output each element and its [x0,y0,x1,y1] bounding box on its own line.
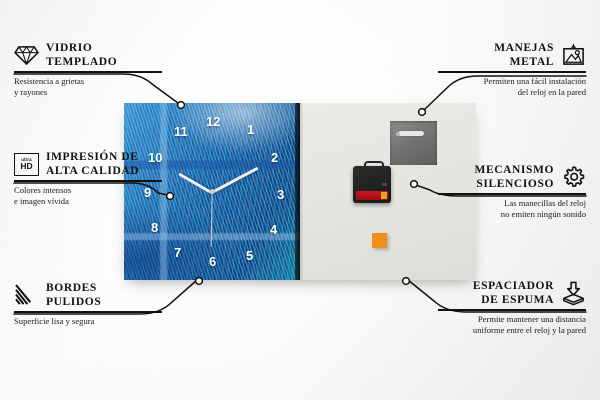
feature-desc-line1: Colores intensos [14,185,164,197]
feature-title-line2: METAL [494,55,554,69]
marker-impresion [167,193,174,200]
feature-bordes-pulidos: BORDES PULIDOS Superficie lisa y segura [14,281,164,327]
feature-title-line2: PULIDOS [46,295,101,309]
feature-desc-line2: no emiten ningún sonido [436,209,586,221]
feature-impresion-alta-calidad: ultra HD IMPRESIÓN DE ALTA CALIDAD Color… [14,150,164,208]
diamond-icon [14,43,39,68]
feature-title-line1: BORDES [46,281,101,295]
feature-rule [14,311,162,313]
feature-title-line2: TEMPLADO [46,55,117,69]
feature-manejas-metal: MANEJAS METAL Permiten una fácil instala… [436,41,586,99]
feature-title-line1: MANEJAS [494,41,554,55]
feature-desc-line1: Resistencia a grietas [14,76,164,88]
feature-title-line2: DE ESPUMA [473,293,554,307]
feature-desc-line1: Permiten una fácil instalación [436,76,586,88]
feature-desc-line2: del reloj en la pared [436,87,586,99]
infographic-canvas: 12 1 2 3 4 5 6 7 8 9 10 11 [0,0,600,400]
feature-title-line2: SILENCIOSO [474,177,554,191]
feature-title-line1: MECANISMO [474,163,554,177]
feature-desc-line2: uniforme entre el reloj y la pared [436,325,586,337]
ultra-hd-hd-label: HD [20,162,32,171]
feature-desc-line2: e imagen vívida [14,196,164,208]
marker-mecanismo [411,181,418,188]
feature-espaciador-espuma: ESPACIADOR DE ESPUMA Permite mantener un… [436,279,586,337]
feature-title-line1: VIDRIO [46,41,117,55]
feature-desc-line1: Las manecillas del reloj [436,198,586,210]
marker-bordes [196,278,203,285]
marker-vidrio [178,102,185,109]
feature-desc-line1: Superficie lisa y segura [14,316,164,328]
picture-frame-icon [561,43,586,68]
feature-title-line1: IMPRESIÓN DE [46,150,139,164]
polished-edges-icon [14,283,39,308]
feature-rule [438,309,586,311]
gear-icon [561,165,586,190]
feature-rule [14,180,162,182]
ultra-hd-icon: ultra HD [14,152,39,177]
foam-spacer-icon [561,281,586,306]
feature-rule [14,71,162,73]
feature-rule [438,71,586,73]
feature-title-line1: ESPACIADOR [473,279,554,293]
feature-desc-line2: y rayones [14,87,164,99]
feature-vidrio-templado: VIDRIO TEMPLADO Resistencia a grietas y … [14,41,164,99]
feature-rule [438,193,586,195]
feature-title-line2: ALTA CALIDAD [46,164,139,178]
marker-espaciador [403,278,410,285]
feature-desc-line1: Permite mantener una distancia [436,314,586,326]
marker-manejas [419,109,426,116]
feature-mecanismo-silencioso: MECANISMO SILENCIOSO Las manecillas del … [436,163,586,221]
